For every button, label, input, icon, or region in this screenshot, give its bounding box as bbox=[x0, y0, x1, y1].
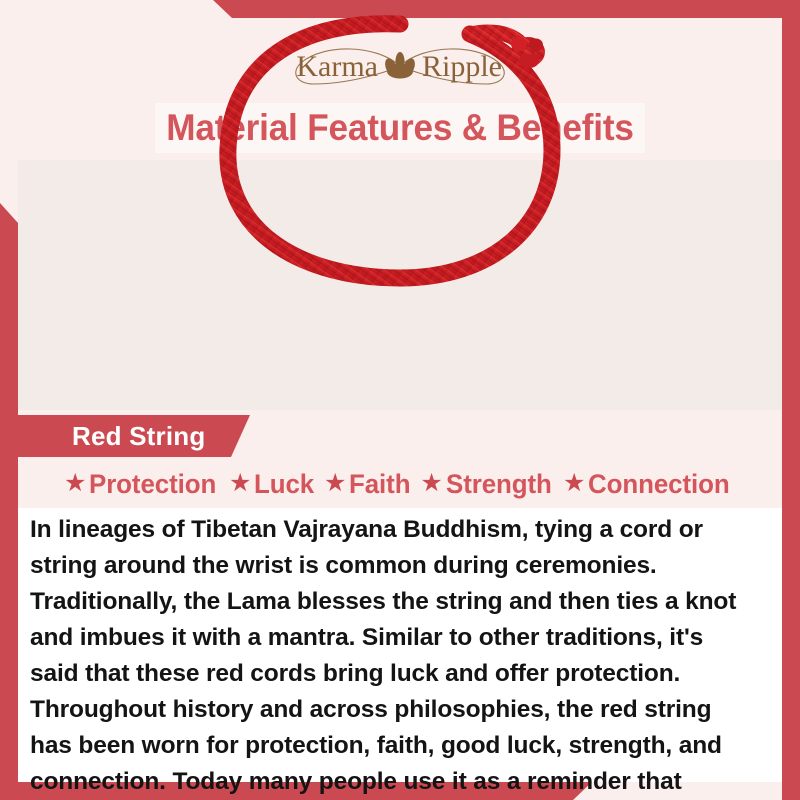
star-icon: ★ bbox=[563, 471, 585, 496]
benefit-label: Connection bbox=[588, 469, 730, 500]
infographic-card: Karma Ripple Material Features & Benefit… bbox=[0, 0, 800, 800]
description-panel: In lineages of Tibetan Vajrayana Buddhis… bbox=[18, 508, 782, 782]
benefit-label: Protection bbox=[89, 469, 216, 500]
benefit-item-luck: ★ Luck bbox=[229, 469, 317, 500]
benefits-row: ★ Protection ★ Luck ★ Faith ★ Strength ★… bbox=[18, 463, 782, 505]
material-label-banner: Red String bbox=[18, 415, 250, 457]
star-icon: ★ bbox=[229, 471, 251, 496]
frame-bar-top bbox=[0, 0, 800, 18]
page-title: Material Features & Benefits bbox=[166, 107, 633, 149]
frame-bar-left bbox=[0, 203, 18, 800]
star-icon: ★ bbox=[64, 471, 86, 496]
benefit-item-protection: ★ Protection bbox=[64, 469, 222, 500]
brand-logo: Karma Ripple bbox=[0, 36, 800, 94]
title-band: Material Features & Benefits bbox=[155, 103, 645, 153]
brand-logo-artwork: Karma Ripple bbox=[250, 36, 550, 94]
benefit-item-strength: ★ Strength bbox=[420, 469, 556, 500]
description-text: In lineages of Tibetan Vajrayana Buddhis… bbox=[30, 512, 758, 800]
benefit-item-faith: ★ Faith bbox=[324, 469, 413, 500]
benefit-label: Faith bbox=[349, 469, 410, 500]
frame-bar-right bbox=[782, 0, 800, 800]
benefit-label: Luck bbox=[254, 469, 314, 500]
benefit-label: Strength bbox=[446, 469, 552, 500]
benefit-item-connection: ★ Connection bbox=[563, 469, 736, 500]
star-icon: ★ bbox=[324, 471, 346, 496]
lotus-icon bbox=[383, 52, 417, 79]
star-icon: ★ bbox=[420, 471, 442, 496]
material-label-text: Red String bbox=[18, 421, 205, 452]
hero-background bbox=[18, 160, 782, 410]
brand-word-right: Ripple bbox=[422, 50, 502, 83]
brand-word-left: Karma bbox=[296, 50, 378, 83]
